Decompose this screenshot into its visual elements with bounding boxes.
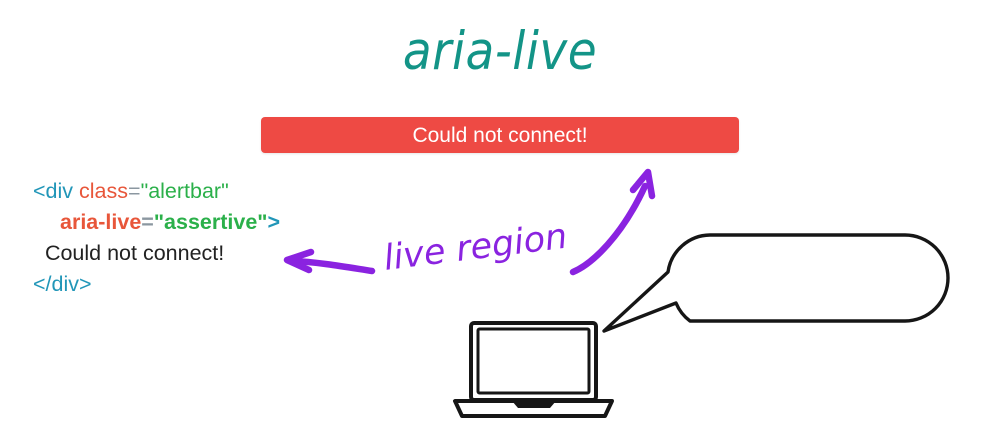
page-title: aria-live [0,21,1000,83]
code-line-1: <div class="alertbar" [33,176,280,207]
arrow-to-code-icon [287,252,372,271]
laptop-icon [455,323,612,416]
arrow-to-alert-icon [573,172,652,272]
code-token-val: "assertive" [154,210,268,234]
code-line-3: Could not connect! [33,238,280,269]
code-token-text: Could not connect! [33,241,224,265]
code-token-tag: <div [33,179,79,203]
code-token-eq: = [141,210,154,234]
code-snippet: <div class="alertbar"aria-live="assertiv… [33,176,280,300]
alert-bar: Could not connect! [261,117,739,153]
code-token-attr: class [79,179,128,203]
code-line-4: </div> [33,269,280,300]
diagram-canvas: aria-live Could not connect! <div class=… [0,0,1000,443]
speech-bubble-text: Could not connect! [696,256,920,282]
speech-bubble-icon [604,235,948,331]
code-token-tag: > [267,210,280,234]
code-token-tag: </div> [33,272,92,296]
code-token-val: "alertbar" [141,179,229,203]
speech-bubble-content: “Could not connect!” [684,258,916,281]
code-token-attr: aria-live [60,210,141,234]
code-token-eq: = [128,179,141,203]
code-line-2: aria-live="assertive"> [33,207,280,238]
live-region-annotation-label: live region [382,217,570,279]
close-quote-mark: ” [920,256,932,282]
alert-bar-message: Could not connect! [412,125,587,146]
open-quote-mark: “ [684,256,696,282]
